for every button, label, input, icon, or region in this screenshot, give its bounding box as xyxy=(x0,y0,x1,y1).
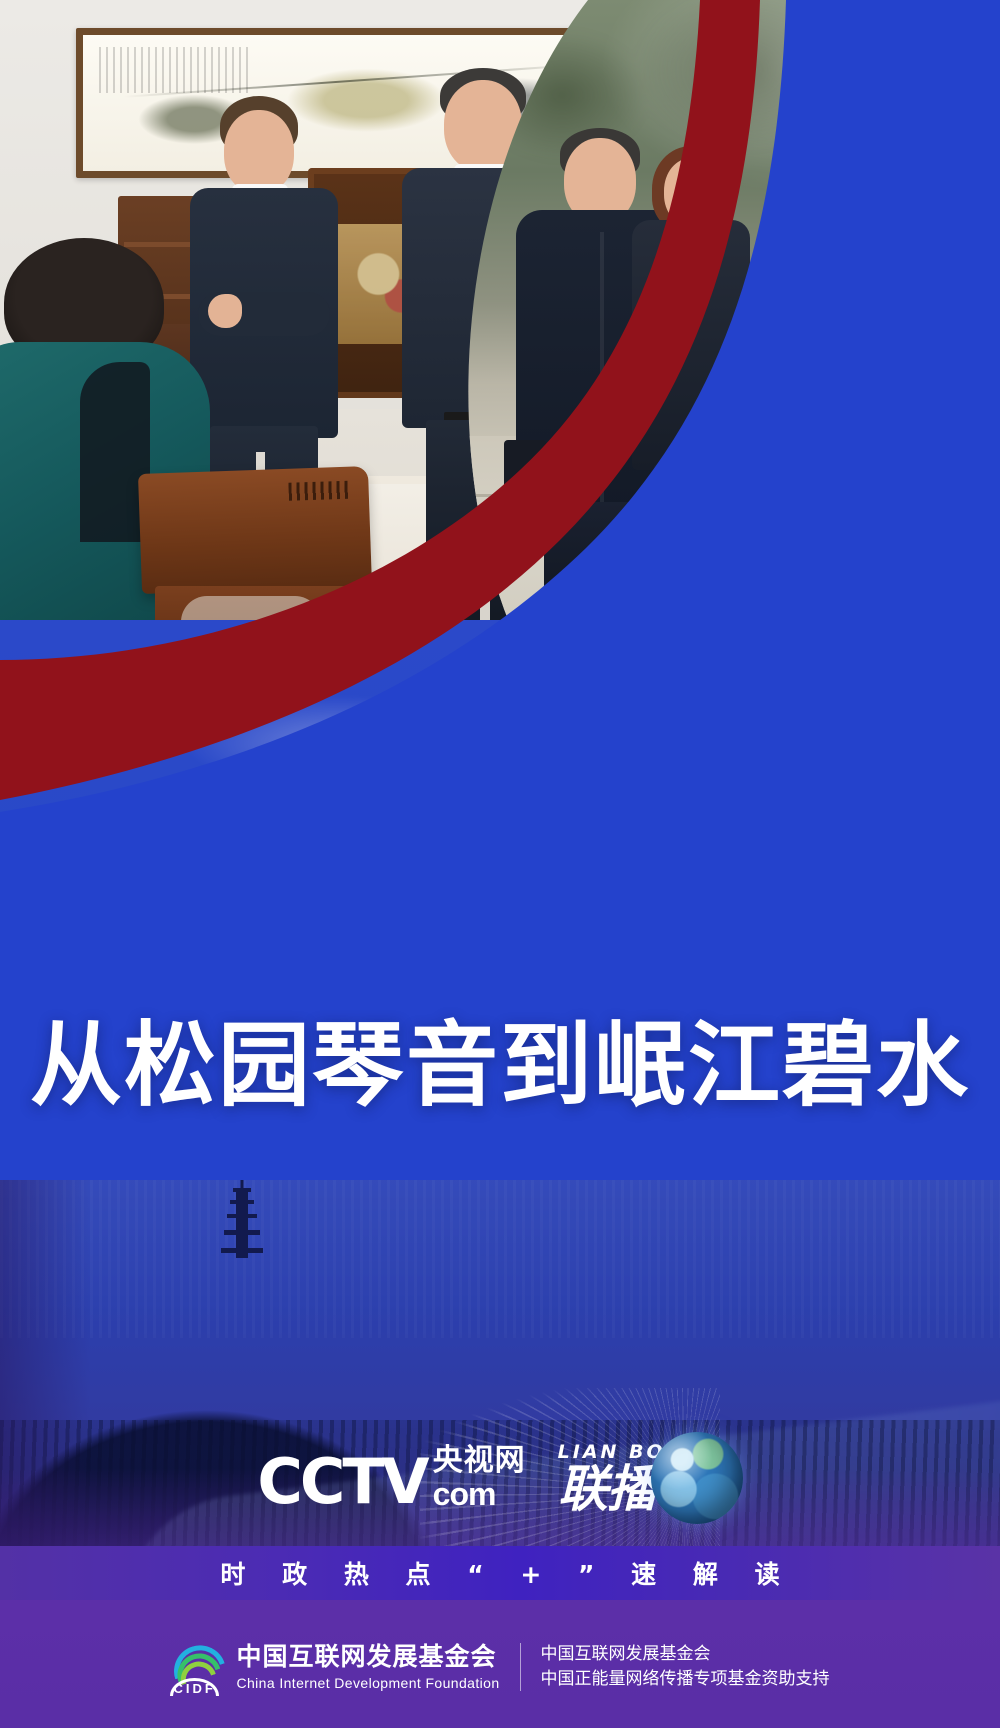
cidf-chinese-name: 中国互联网发展基金会 xyxy=(236,1643,499,1672)
cidf-wifi-arcs-icon: CIDF xyxy=(170,1644,226,1690)
page-title: 从松园琴音到岷江碧水 xyxy=(0,1018,1000,1115)
sponsor-footer: CIDF 中国互联网发展基金会 China Internet Developme… xyxy=(0,1600,1000,1728)
cctv-com-label: com xyxy=(433,1478,496,1510)
cidf-english-name: China Internet Development Foundation xyxy=(236,1675,499,1691)
fund-credit-line-2: 中国正能量网络传播专项基金资助支持 xyxy=(541,1667,830,1692)
cidf-text: 中国互联网发展基金会 China Internet Development Fo… xyxy=(236,1643,499,1691)
tagline-bar: 时 政 热 点 “ + ” 速 解 读 xyxy=(0,1546,1000,1600)
brand-logo-row: CCTV 央视网 com LIAN BO+ 联播+ xyxy=(0,1418,1000,1538)
cctv-logo[interactable]: CCTV 央视网 com xyxy=(257,1446,525,1510)
fund-credit: 中国互联网发展基金会 中国正能量网络传播专项基金资助支持 xyxy=(541,1642,830,1691)
fund-credit-line-1: 中国互联网发展基金会 xyxy=(541,1642,830,1667)
lianbo-logo[interactable]: LIAN BO+ 联播+ xyxy=(558,1432,743,1524)
poster-root: 从松园琴音到岷江碧水 CCTV 央视网 com LIAN BO+ 联播+ 时 政… xyxy=(0,0,1000,1728)
cctv-sub: 央视网 com xyxy=(433,1446,526,1510)
earth-globe-icon xyxy=(651,1432,743,1524)
cidf-abbreviation: CIDF xyxy=(170,1678,218,1696)
cidf-logo[interactable]: CIDF 中国互联网发展基金会 China Internet Developme… xyxy=(170,1643,499,1691)
footer-divider xyxy=(520,1643,521,1691)
cctv-wordmark: CCTV xyxy=(257,1454,426,1510)
cctv-chinese-label: 央视网 xyxy=(433,1446,526,1476)
